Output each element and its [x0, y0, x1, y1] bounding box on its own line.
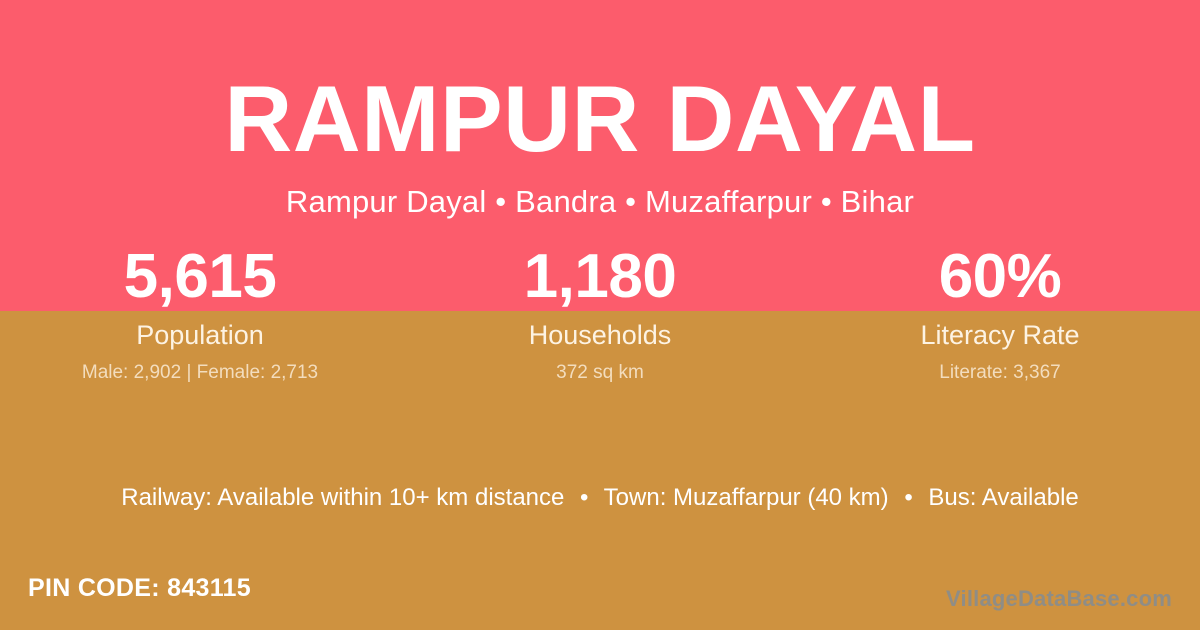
- stat-population: 5,615 Population Male: 2,902 | Female: 2…: [0, 246, 400, 382]
- infra-bus: Bus: Available: [928, 484, 1078, 511]
- stat-label-population: Population: [0, 322, 400, 349]
- infra-separator-1: •: [571, 484, 597, 511]
- stat-label-households: Households: [400, 322, 800, 349]
- infra-railway: Railway: Available within 10+ km distanc…: [121, 484, 564, 511]
- stat-value-population: 5,615: [0, 246, 400, 308]
- stat-detail-population: Male: 2,902 | Female: 2,713: [0, 363, 400, 382]
- stat-literacy-rate: 60% Literacy Rate Literate: 3,367: [800, 246, 1200, 382]
- stat-label-literacy-rate: Literacy Rate: [800, 322, 1200, 349]
- stat-value-households: 1,180: [400, 246, 800, 308]
- site-watermark: VillageDataBase.com: [946, 588, 1172, 610]
- infra-separator-2: •: [895, 484, 921, 511]
- stat-detail-literacy-rate: Literate: 3,367: [800, 363, 1200, 382]
- card-header: RAMPUR DAYAL Rampur Dayal • Bandra • Muz…: [0, 72, 1200, 217]
- infrastructure-line: Railway: Available within 10+ km distanc…: [0, 486, 1200, 510]
- stat-value-literacy-rate: 60%: [800, 246, 1200, 308]
- pin-code: PIN CODE: 843115: [28, 576, 251, 601]
- infra-town: Town: Muzaffarpur (40 km): [604, 484, 889, 511]
- page-title: RAMPUR DAYAL: [0, 72, 1200, 166]
- stats-row: 5,615 Population Male: 2,902 | Female: 2…: [0, 246, 1200, 382]
- stat-detail-households: 372 sq km: [400, 363, 800, 382]
- breadcrumb: Rampur Dayal • Bandra • Muzaffarpur • Bi…: [0, 186, 1200, 217]
- stat-households: 1,180 Households 372 sq km: [400, 246, 800, 382]
- village-info-card: RAMPUR DAYAL Rampur Dayal • Bandra • Muz…: [0, 0, 1200, 630]
